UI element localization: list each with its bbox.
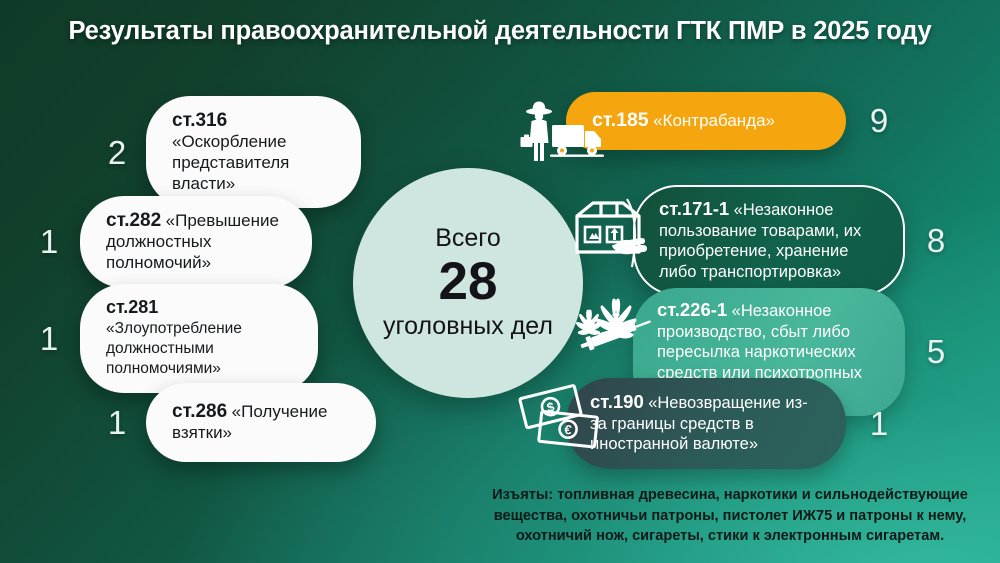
pill-st316-description: «Оскорбление представителя власти» — [172, 132, 289, 192]
count-st281: 1 — [32, 322, 66, 355]
pill-st171-1-article: ст.171-1 — [659, 198, 729, 219]
pill-st286-article: ст.286 — [172, 401, 227, 422]
pill-st190-text: ст.190 «Невозвращение из-за границы сред… — [590, 391, 822, 455]
pill-st286[interactable]: ст.286 «Получение взятки» — [146, 383, 376, 462]
left-row-4: 1 ст.286 «Получение взятки» — [100, 383, 376, 462]
count-st226-1: 5 — [919, 335, 953, 368]
pill-st281-article: ст.281 — [106, 297, 158, 317]
pill-st190-article: ст.190 — [590, 391, 644, 412]
count-st286: 1 — [100, 406, 134, 439]
pill-st286-text: ст.286 «Получение взятки» — [172, 400, 350, 444]
count-st282: 1 — [32, 225, 66, 258]
footer-note: Изъяты: топливная древесина, наркотики и… — [470, 485, 990, 547]
pill-st282[interactable]: ст.282 «Превышение должностных полномочи… — [80, 196, 312, 288]
total-number: 28 — [439, 253, 498, 311]
total-label: Всего — [435, 225, 501, 251]
right-row-1: ст.185 «Контрабанда» 9 — [566, 92, 896, 150]
pill-st316-text: ст.316 «Оскорбление представителя власти… — [172, 109, 335, 194]
pill-st281-text: ст.281 «Злоупотребление должностными пол… — [106, 297, 292, 379]
count-st171-1: 8 — [919, 224, 953, 257]
pill-st282-article: ст.282 — [106, 210, 161, 231]
pill-st281-description: «Злоупотребление должностными полномочия… — [106, 320, 242, 377]
pill-st185[interactable]: ст.185 «Контрабанда» — [566, 92, 846, 150]
pill-st185-description: «Контрабанда» — [653, 111, 775, 130]
right-row-4: ст.190 «Невозвращение из-за границы сред… — [566, 378, 896, 469]
total-cases-circle: Всего 28 уголовных дел — [353, 168, 583, 398]
pill-st185-article: ст.185 — [592, 109, 649, 131]
infographic-canvas: Результаты правоохранительной деятельнос… — [0, 0, 1000, 563]
pill-st226-1-article: ст.226-1 — [657, 299, 727, 320]
count-st185: 9 — [862, 104, 896, 137]
count-st190: 1 — [862, 407, 896, 440]
total-unit-label: уголовных дел — [383, 312, 553, 341]
count-st316: 2 — [100, 136, 134, 169]
pill-st185-text: ст.185 «Контрабанда» — [592, 109, 775, 133]
pill-st316-article: ст.316 — [172, 110, 227, 131]
pill-st282-text: ст.282 «Превышение должностных полномочи… — [106, 209, 286, 274]
right-row-2: ст.171-1 «Незаконное пользование товарам… — [633, 185, 953, 296]
svg-text:$: $ — [545, 399, 556, 415]
pill-st171-1-text: ст.171-1 «Незаконное пользование товарам… — [659, 198, 879, 282]
pill-st190[interactable]: ст.190 «Невозвращение из-за границы сред… — [566, 378, 846, 469]
page-title: Результаты правоохранительной деятельнос… — [0, 17, 1000, 46]
left-row-3: 1 ст.281 «Злоупотребление должностными п… — [32, 284, 318, 393]
left-row-2: 1 ст.282 «Превышение должностных полномо… — [32, 196, 312, 288]
pill-st316[interactable]: ст.316 «Оскорбление представителя власти… — [146, 96, 361, 208]
pill-st171-1[interactable]: ст.171-1 «Незаконное пользование товарам… — [633, 185, 905, 296]
left-row-1: 2 ст.316 «Оскорбление представителя влас… — [100, 96, 361, 208]
pill-st281[interactable]: ст.281 «Злоупотребление должностными пол… — [80, 284, 318, 393]
